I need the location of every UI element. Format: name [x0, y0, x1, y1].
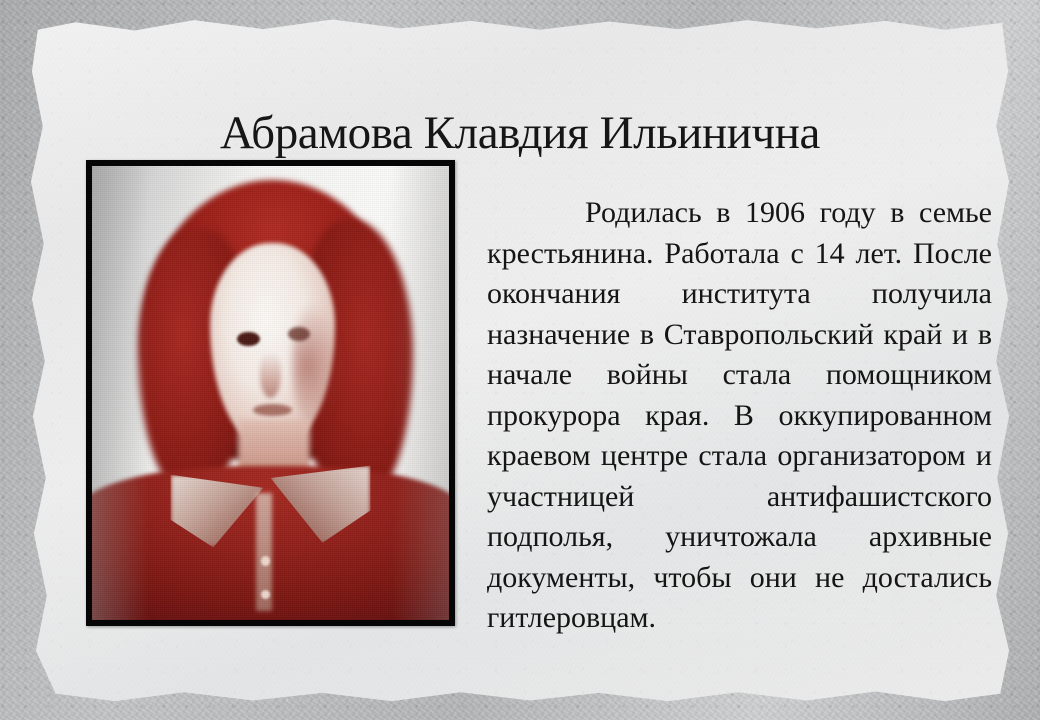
portrait-photo	[92, 166, 449, 620]
portrait-cheek-shadow	[292, 302, 342, 429]
portrait-mouth	[253, 404, 292, 416]
portrait-eye-right	[288, 327, 309, 341]
portrait-button-upper	[261, 556, 270, 565]
portrait-photo-frame	[86, 160, 455, 626]
portrait-nose	[260, 352, 281, 397]
slide-content: Абрамова Клавдия Ильинична	[0, 0, 1040, 720]
portrait-eye-left	[237, 332, 260, 347]
slide-canvas: Абрамова Клавдия Ильинична	[0, 0, 1040, 720]
page-title: Абрамова Клавдия Ильинична	[0, 109, 1040, 158]
portrait-button-lower	[261, 590, 270, 599]
biography-paragraph: Родилась в 1906 году в семье крестьянина…	[487, 193, 992, 639]
